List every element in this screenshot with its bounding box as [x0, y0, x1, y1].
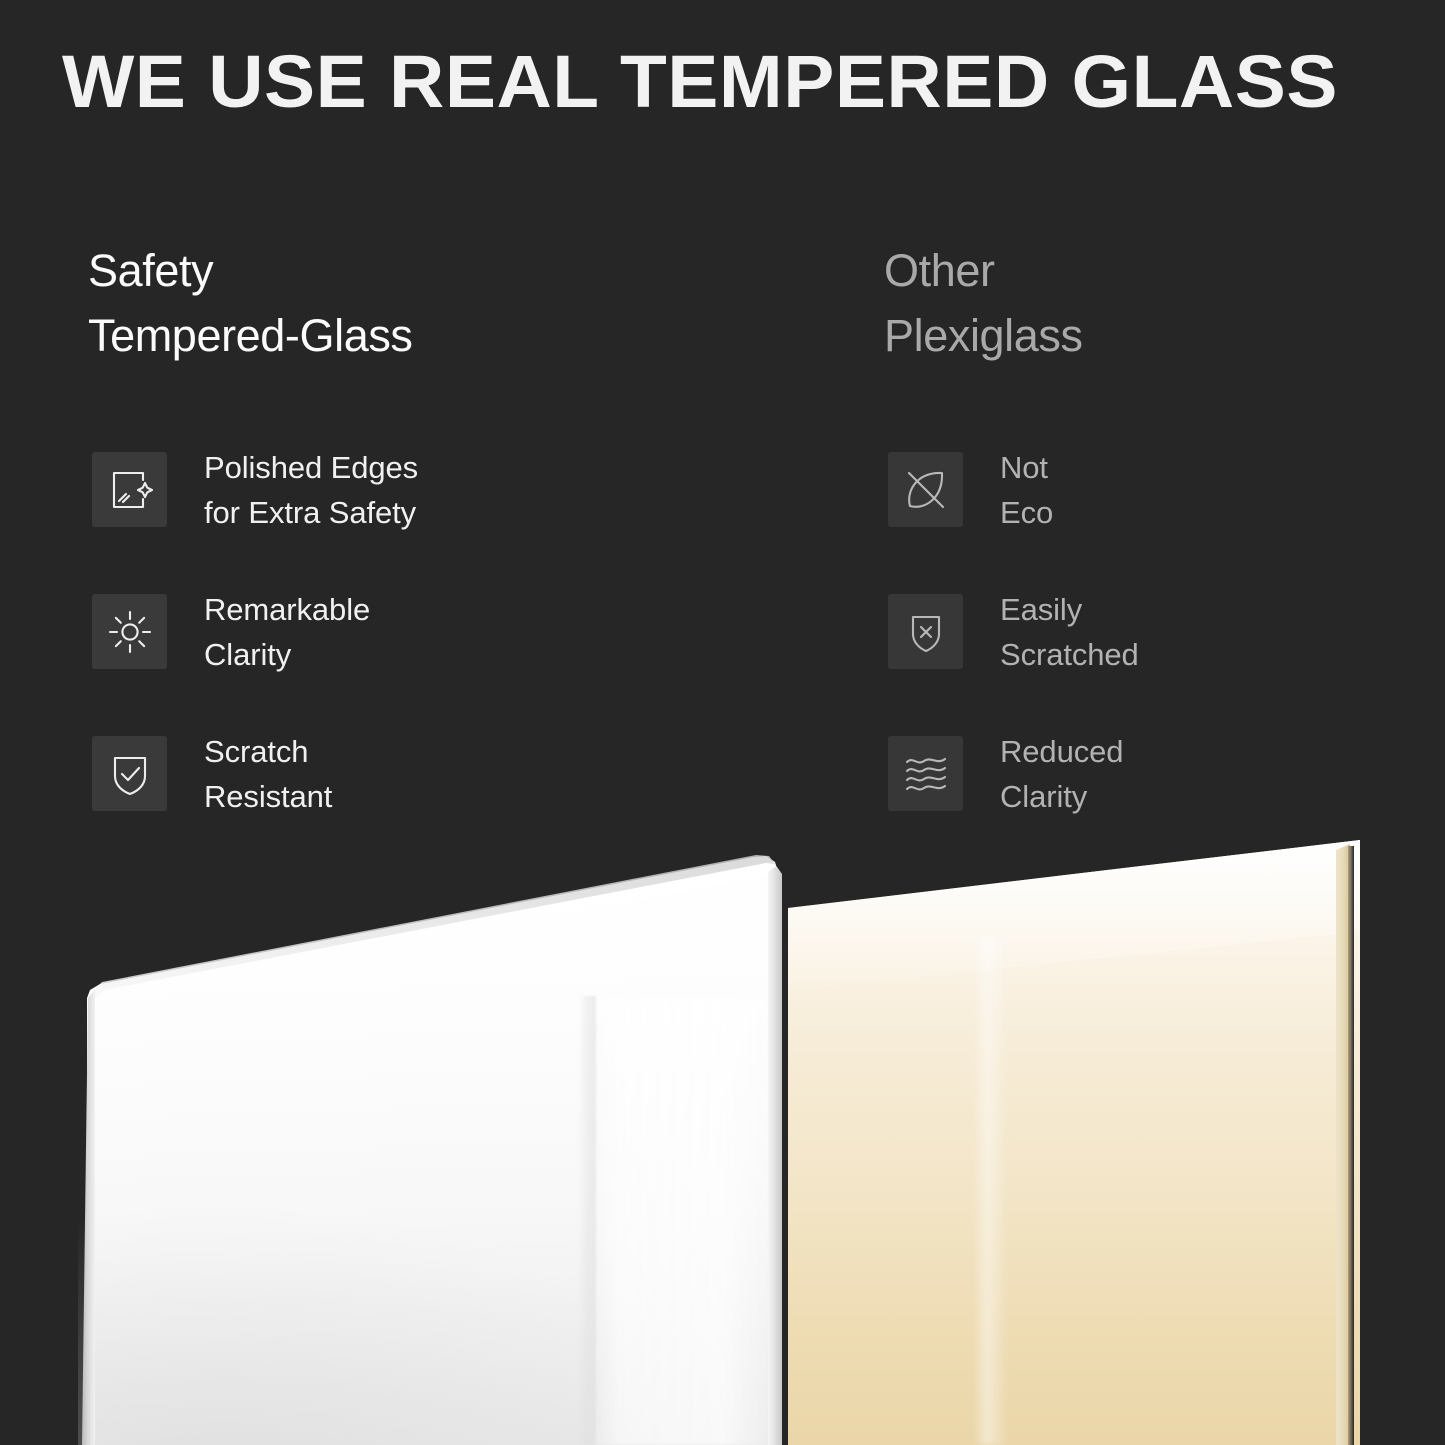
feature-label: Easily Scratched: [1000, 587, 1139, 677]
feature-row: Reduced Clarity: [888, 736, 1408, 811]
feature-row: Scratch Resistant: [92, 736, 812, 811]
feature-label: Not Eco: [1000, 445, 1053, 535]
sun-brightness-icon: [92, 594, 167, 669]
feature-label: Remarkable Clarity: [204, 587, 370, 677]
tempered-glass-panel: [78, 850, 790, 1445]
tempered-glass-right-edge: [768, 866, 782, 1445]
feature-list-right: Not Eco Easily Scratched: [888, 452, 1408, 811]
feature-row: Easily Scratched: [888, 594, 1408, 669]
column-safety-tempered-glass: Safety Tempered-Glass Polished Edges for…: [88, 238, 808, 368]
polished-glass-sparkle-icon: [92, 452, 167, 527]
shield-check-icon: [92, 736, 167, 811]
comparison-infographic: WE USE REAL TEMPERED GLASS Safety Temper…: [0, 0, 1445, 1445]
feature-row: Remarkable Clarity: [92, 594, 812, 669]
leaf-crossed-out-icon: [888, 452, 963, 527]
glass-panels-photo: [0, 840, 1445, 1445]
feature-label: Polished Edges for Extra Safety: [204, 445, 418, 535]
plexiglass-right-shadow: [1348, 846, 1354, 1445]
feature-label: Reduced Clarity: [1000, 729, 1123, 819]
column-heading-left: Safety Tempered-Glass: [88, 238, 808, 368]
feature-label: Scratch Resistant: [204, 729, 332, 819]
shield-x-icon: [888, 594, 963, 669]
plexiglass-panel: [788, 840, 1368, 1445]
feature-row: Not Eco: [888, 452, 1408, 527]
wavy-lines-icon: [888, 736, 963, 811]
tempered-glass-reflection: [586, 998, 771, 1445]
feature-list-left: Polished Edges for Extra Safety: [92, 452, 812, 811]
column-other-plexiglass: Other Plexiglass Not Eco: [884, 238, 1404, 368]
page-title: WE USE REAL TEMPERED GLASS: [62, 40, 1439, 124]
column-heading-right: Other Plexiglass: [884, 238, 1404, 368]
plexiglass-reflection-seam: [973, 935, 1009, 1445]
feature-row: Polished Edges for Extra Safety: [92, 452, 812, 527]
